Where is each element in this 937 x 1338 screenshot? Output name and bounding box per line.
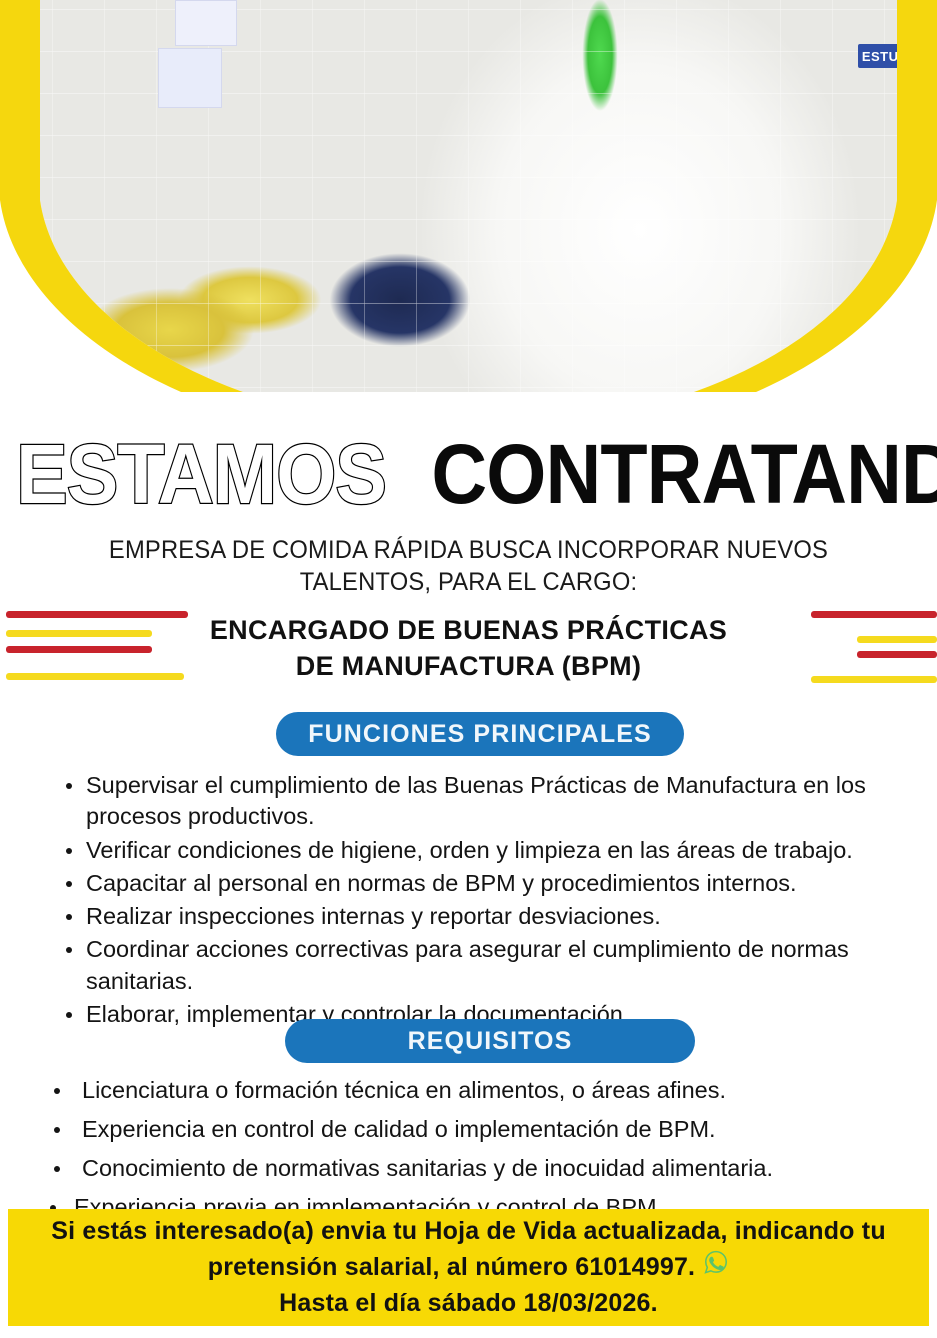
wall-notice-paper-secondary <box>158 48 222 108</box>
page-title: ESTAMOSCONTRATANDO <box>0 432 937 516</box>
list-item: Supervisar el cumplimiento de las Buenas… <box>58 770 920 833</box>
headline-subtitle: EMPRESA DE COMIDA RÁPIDA BUSCA INCORPORA… <box>71 534 866 598</box>
whatsapp-icon[interactable] <box>703 1249 729 1286</box>
section-heading-requisitos-label: REQUISITOS <box>408 1027 573 1056</box>
estufa-sign: ESTUFA <box>858 44 920 68</box>
section-heading-funciones-label: FUNCIONES PRINCIPALES <box>308 720 652 749</box>
decor-bar-right-red-1 <box>811 611 937 618</box>
list-item: Coordinar acciones correctivas para aseg… <box>58 934 920 997</box>
list-item: Capacitar al personal en normas de BPM y… <box>58 868 920 899</box>
decor-bar-left-red-2 <box>6 646 152 653</box>
footer-line-3: Hasta el día sábado 18/03/2026. <box>8 1286 929 1322</box>
wall-notice-paper <box>175 0 237 46</box>
decor-bar-right-yellow-2 <box>811 676 937 683</box>
list-item: Conocimiento de normativas sanitarias y … <box>40 1150 920 1187</box>
funciones-list: Supervisar el cumplimiento de las Buenas… <box>58 770 920 1032</box>
tile-wall-texture <box>0 0 937 430</box>
footer-line-2-row: pretensión salarial, al número 61014997. <box>8 1249 929 1286</box>
contact-footer-band: Si estás interesado(a) envia tu Hoja de … <box>8 1209 929 1326</box>
decor-bar-left-yellow-1 <box>6 630 152 637</box>
requisitos-list: Licenciatura o formación técnica en alim… <box>40 1072 920 1229</box>
decor-bar-left-red-1 <box>6 611 188 618</box>
job-title: ENCARGADO DE BUENAS PRÁCTICAS DE MANUFAC… <box>200 612 737 685</box>
list-item: Experiencia en control de calidad o impl… <box>40 1111 920 1148</box>
footer-line-2: pretensión salarial, al número 61014997. <box>208 1250 695 1286</box>
decor-bar-right-yellow-1 <box>857 636 937 643</box>
list-item: Licenciatura o formación técnica en alim… <box>40 1072 920 1109</box>
decor-bar-right-red-2 <box>857 651 937 658</box>
job-posting-flyer: ESTUFA ESTAMOSCONTRATANDO EMPRESA DE COM… <box>0 0 937 1338</box>
headline-word-estamos: ESTAMOS <box>16 432 386 516</box>
list-item: Verificar condiciones de higiene, orden … <box>58 835 920 866</box>
hero-image-container: ESTUFA <box>0 0 937 430</box>
section-heading-requisitos: REQUISITOS <box>285 1019 695 1063</box>
section-heading-funciones: FUNCIONES PRINCIPALES <box>276 712 684 756</box>
footer-line-1: Si estás interesado(a) envia tu Hoja de … <box>8 1214 929 1250</box>
decor-bar-left-yellow-2 <box>6 673 184 680</box>
headline-word-contratando: CONTRATANDO <box>432 432 937 516</box>
estufa-sign-label: ESTUFA <box>862 49 916 64</box>
list-item: Realizar inspecciones internas y reporta… <box>58 901 920 932</box>
